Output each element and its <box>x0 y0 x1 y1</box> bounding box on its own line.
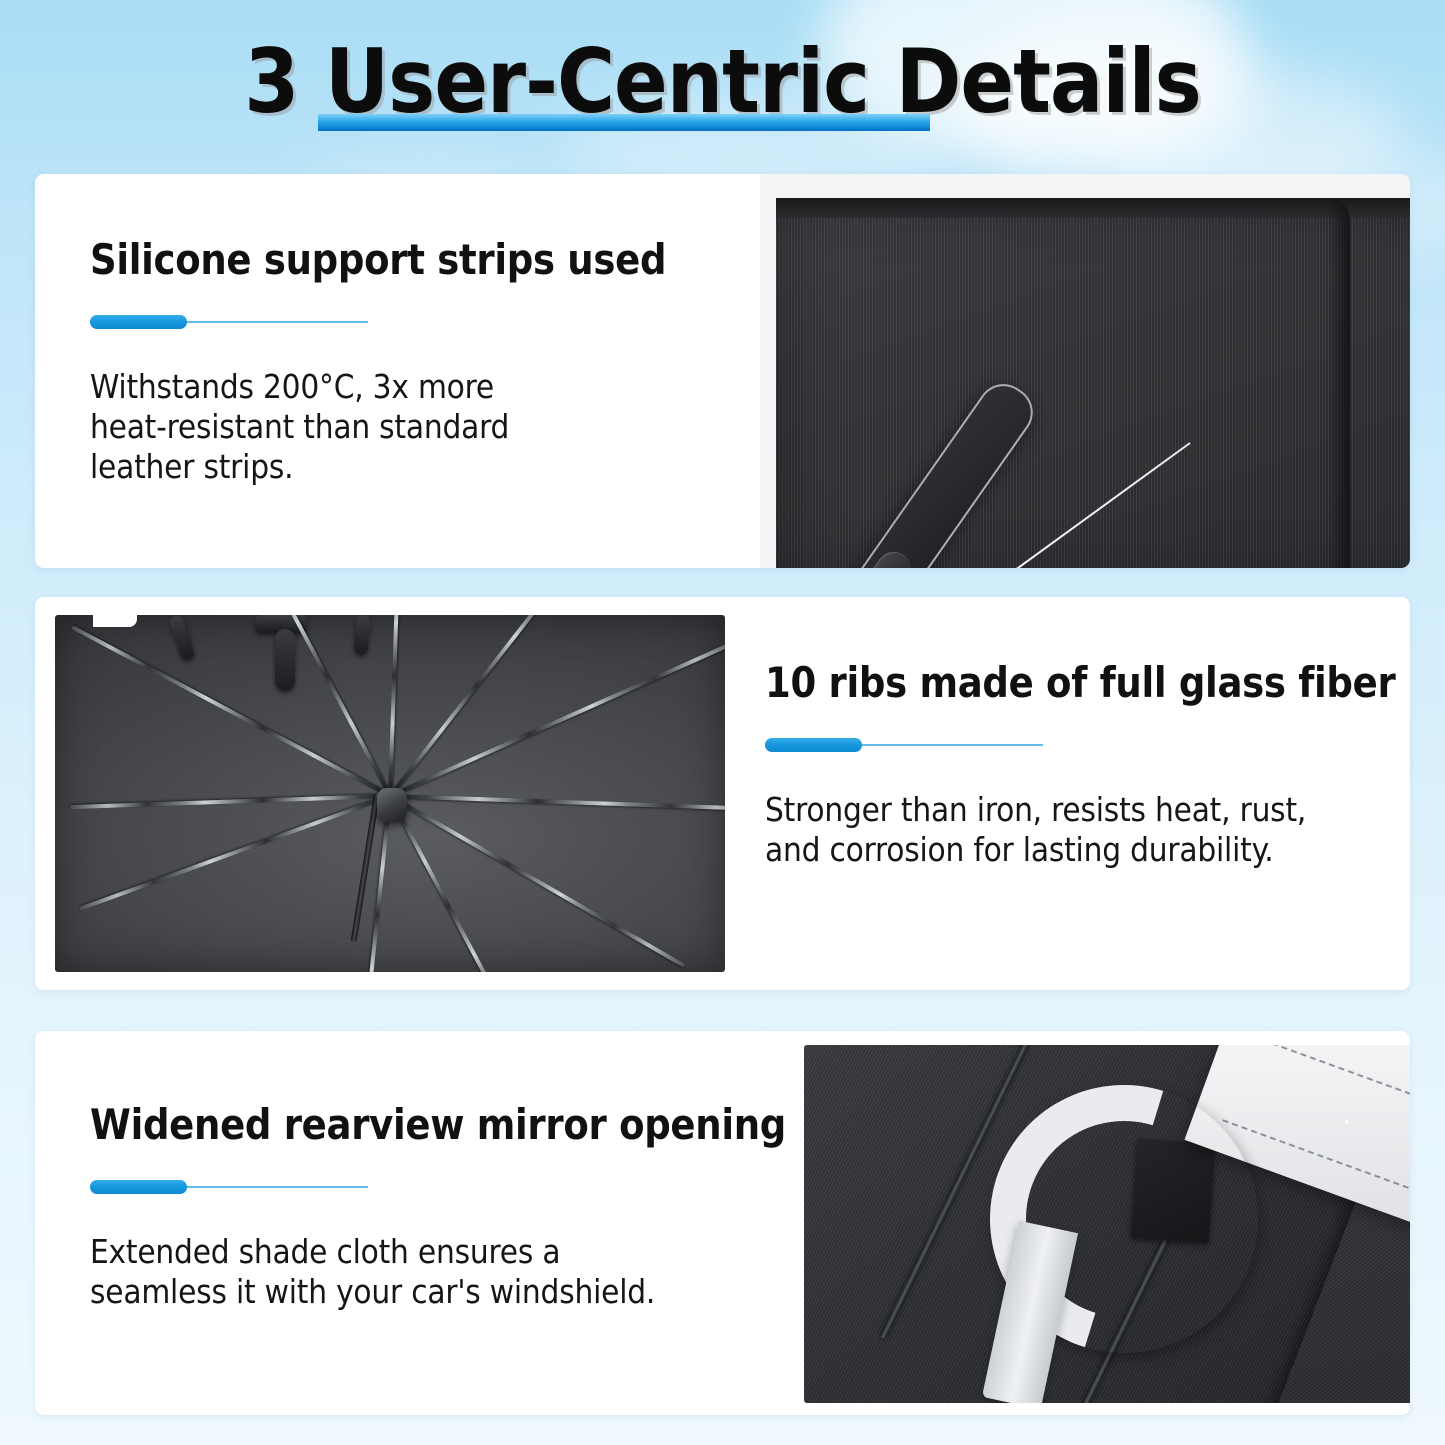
umbrella-rib <box>388 615 402 796</box>
divider-fill <box>765 738 862 752</box>
feature-body: Stronger than iron, resists heat, rust, … <box>765 790 1410 870</box>
title-underline-bar <box>318 114 930 131</box>
feature-card-2: 10 ribs made of full glass fiber Stronge… <box>35 597 1410 990</box>
feature-heading: Silicone support strips used <box>90 236 747 284</box>
umbrella-rib <box>390 794 725 811</box>
feature-body: Withstands 200°C, 3x more heat-resistant… <box>90 367 760 487</box>
feature-divider <box>90 315 368 329</box>
umbrella-rib <box>79 794 390 911</box>
umbrella-rib <box>388 795 537 972</box>
umbrella-rib <box>389 639 725 797</box>
canopy-clip-icon <box>168 615 196 662</box>
feature-divider <box>90 1180 368 1194</box>
feature-heading: 10 ribs made of full glass fiber <box>765 659 1397 707</box>
feature-image-sunshade-corner <box>760 174 1410 568</box>
feature-image-umbrella-ribs <box>35 597 745 990</box>
canopy-clip-icon <box>275 629 295 691</box>
feature-text-column: Silicone support strips used Withstands … <box>35 174 760 568</box>
umbrella-rib <box>388 615 607 797</box>
feature-image-velcro-strap <box>790 1031 1410 1415</box>
divider-fill <box>90 315 187 329</box>
feature-card-3: Widened rearview mirror opening Extended… <box>35 1031 1410 1415</box>
umbrella-canopy <box>55 615 725 972</box>
canopy-notch <box>93 615 137 627</box>
feature-text-column: 10 ribs made of full glass fiber Stronge… <box>745 597 1410 990</box>
sunshade-right-edge <box>1328 198 1350 568</box>
divider-fill <box>90 1180 187 1194</box>
feature-body: Extended shade cloth ensures a seamless … <box>90 1232 790 1312</box>
infographic-page: 3 User-Centric Details Silicone support … <box>0 0 1445 1445</box>
feature-divider <box>765 738 1043 752</box>
canopy-clip-icon <box>354 615 371 655</box>
feature-text-column: Widened rearview mirror opening Extended… <box>35 1031 790 1415</box>
sunshade-top-edge <box>776 198 1410 218</box>
umbrella-hub <box>377 788 407 822</box>
page-title: 3 User-Centric Details <box>0 30 1445 150</box>
feature-heading: Widened rearview mirror opening <box>90 1101 776 1149</box>
sunshade-base-fabric <box>804 1045 1410 1403</box>
feature-card-1: Silicone support strips used Withstands … <box>35 174 1410 568</box>
umbrella-rib <box>70 794 390 809</box>
